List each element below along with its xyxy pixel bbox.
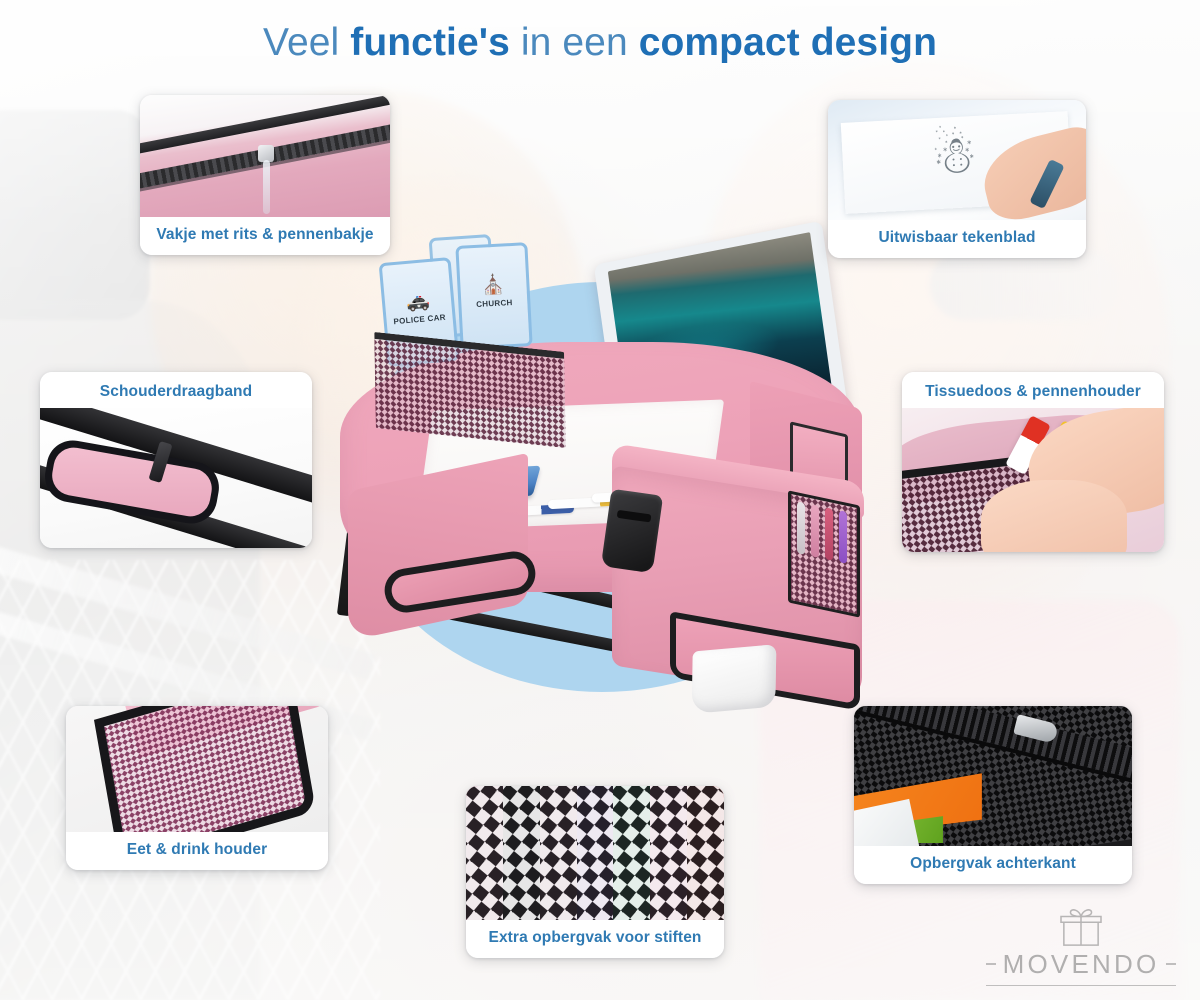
page-title: Veel functie's in een compact design bbox=[0, 20, 1200, 66]
mesh-food-pocket-icon bbox=[94, 706, 316, 832]
title-part-2: in een bbox=[510, 21, 639, 64]
pen-column-1 bbox=[466, 786, 503, 920]
callout-label-eet-drink-houder: Eet & drink houder bbox=[66, 832, 328, 870]
callout-photo-extra-opbergvak-stiften bbox=[466, 786, 724, 920]
hand-lower-icon bbox=[981, 480, 1128, 552]
flashcard-church: ⛪ CHURCH bbox=[455, 242, 532, 350]
callout-photo-uitwisbaar-tekenblad: ☃ bbox=[828, 100, 1086, 220]
callout-card-tissuedoos-pennenhouder[interactable]: Tissuedoos & pennenhouder bbox=[902, 372, 1164, 552]
drawing-photo-art: ☃ bbox=[828, 100, 1086, 220]
tissue-pen-photo-art bbox=[902, 408, 1164, 552]
zipper-photo-art bbox=[140, 95, 390, 217]
callout-label-tissuedoos-pennenhouder: Tissuedoos & pennenhouder bbox=[902, 372, 1164, 408]
callout-photo-tissuedoos-pennenhouder bbox=[902, 408, 1164, 552]
shoulder-strap-photo-art bbox=[40, 408, 312, 548]
side-marker-1 bbox=[797, 501, 805, 555]
side-marker-4 bbox=[839, 510, 847, 564]
logo-rule-left bbox=[986, 963, 996, 965]
gift-box-icon bbox=[1058, 907, 1104, 947]
food-holder-photo-art bbox=[66, 706, 328, 832]
callout-card-uitwisbaar-tekenblad[interactable]: ☃ Uitwisbaar tekenblad bbox=[828, 100, 1086, 258]
callout-photo-opbergvak-achterkant bbox=[854, 706, 1132, 846]
logo-wordmark-row: MOVENDO bbox=[986, 949, 1176, 980]
flashcard-2-label: CHURCH bbox=[476, 298, 513, 309]
strap-buckle bbox=[601, 489, 663, 573]
callout-photo-schouderdraagband bbox=[40, 408, 312, 548]
pen-column-7 bbox=[687, 786, 724, 920]
pen-column-2 bbox=[503, 786, 540, 920]
logo-rule-right bbox=[1166, 963, 1176, 965]
side-marker-mesh-pocket bbox=[788, 490, 860, 617]
doodle-icon: ☃ bbox=[929, 125, 980, 188]
zipper-pull-icon bbox=[258, 145, 274, 162]
product-infographic-poster: Veel functie's in een compact design T 🚓… bbox=[0, 0, 1200, 1000]
callout-label-schouderdraagband: Schouderdraagband bbox=[40, 372, 312, 408]
title-bold-1: functie's bbox=[350, 21, 510, 64]
callout-card-opbergvak-achterkant[interactable]: Opbergvak achterkant bbox=[854, 706, 1132, 884]
church-icon: ⛪ bbox=[481, 272, 506, 297]
pen-pockets-photo-art bbox=[466, 786, 724, 920]
callout-card-extra-opbergvak-stiften[interactable]: Extra opbergvak voor stiften bbox=[466, 786, 724, 958]
side-marker-3 bbox=[825, 507, 833, 561]
tissue-dispenser bbox=[692, 644, 777, 714]
police-car-icon: 🚓 bbox=[405, 288, 431, 314]
callout-photo-eet-drink-houder bbox=[66, 706, 328, 832]
title-part-1: Veel bbox=[263, 21, 350, 64]
pen-column-4 bbox=[577, 786, 614, 920]
callout-label-uitwisbaar-tekenblad: Uitwisbaar tekenblad bbox=[828, 220, 1086, 258]
callout-card-vakje-met-rits[interactable]: Vakje met rits & pennenbakje bbox=[140, 95, 390, 255]
back-pocket-photo-art bbox=[854, 706, 1132, 846]
brand-logo: MOVENDO bbox=[986, 894, 1176, 986]
callout-card-eet-drink-houder[interactable]: Eet & drink houder bbox=[66, 706, 328, 870]
logo-wordmark: MOVENDO bbox=[1003, 949, 1160, 980]
pen-column-5 bbox=[613, 786, 650, 920]
callout-card-schouderdraagband[interactable]: Schouderdraagband bbox=[40, 372, 312, 548]
hero-product-travel-tray: T 🚓 POLICE CAR ⛪ CHURCH bbox=[320, 230, 880, 700]
callout-label-extra-opbergvak-stiften: Extra opbergvak voor stiften bbox=[466, 920, 724, 958]
flashcard-mesh-pocket bbox=[374, 332, 566, 448]
pen-column-6 bbox=[650, 786, 687, 920]
side-marker-2 bbox=[811, 504, 819, 558]
callout-photo-vakje-met-rits bbox=[140, 95, 390, 217]
callout-label-opbergvak-achterkant: Opbergvak achterkant bbox=[854, 846, 1132, 884]
flashcard-1-label: POLICE CAR bbox=[393, 313, 446, 327]
title-bold-2: compact design bbox=[639, 21, 937, 64]
callout-label-vakje-met-rits: Vakje met rits & pennenbakje bbox=[140, 217, 390, 255]
logo-underline bbox=[986, 985, 1176, 987]
pen-column-3 bbox=[540, 786, 577, 920]
